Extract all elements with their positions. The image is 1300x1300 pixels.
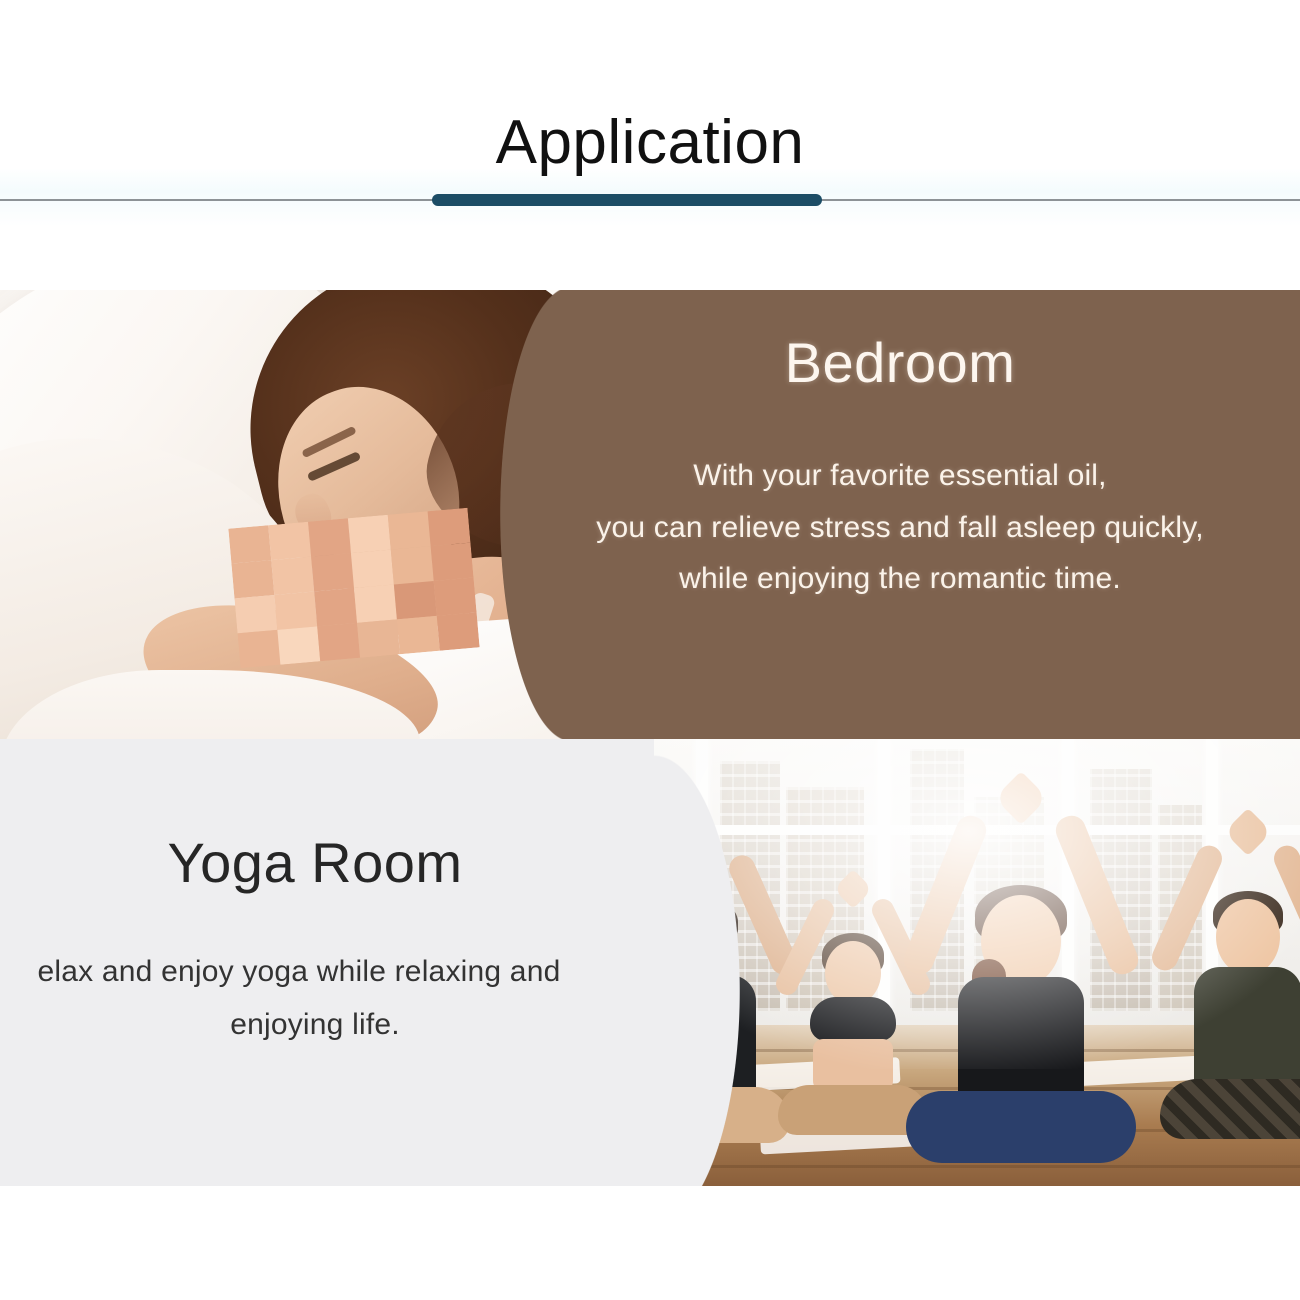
pixelation-mosaic-overlay	[228, 508, 479, 668]
section-bedroom: Bedroom With your favorite essential oil…	[0, 290, 1300, 739]
header-accent-bar	[432, 194, 822, 206]
bedroom-caption-panel	[500, 290, 1300, 739]
section-yoga-room: Yoga Room elax and enjoy yoga while rela…	[0, 739, 1300, 1186]
page-title: Application	[0, 112, 1300, 174]
application-slide: Application	[0, 0, 1300, 1300]
slide-header: Application	[0, 0, 1300, 290]
yoga-caption-panel	[0, 739, 740, 1186]
